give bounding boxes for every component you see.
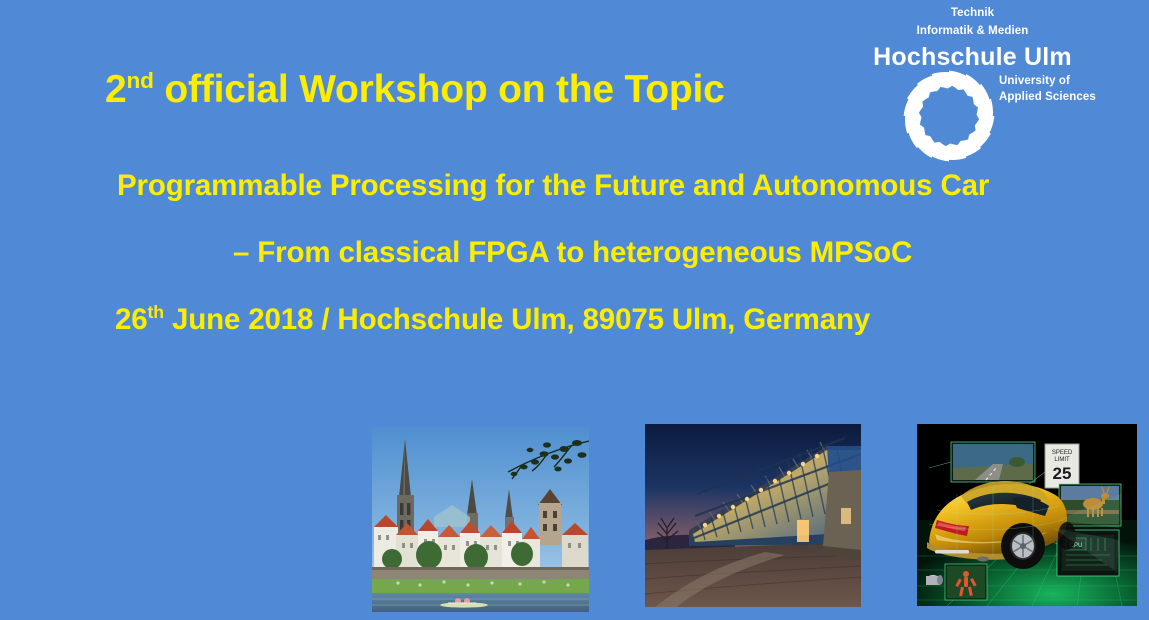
- hochschule-ulm-building-photo: [645, 424, 861, 607]
- logo-department-line-2: Informatik & Medien: [856, 22, 1089, 40]
- hochschule-ulm-logo: Technik Informatik & Medien Hochschule U…: [856, 0, 1149, 175]
- event-date-location: 26th June 2018 / Hochschule Ulm, 89075 U…: [115, 303, 870, 337]
- title-rest: official Workshop on the Topic: [154, 68, 725, 111]
- title-prefix: 2: [105, 68, 127, 111]
- logo-subtitle: University of Applied Sciences: [999, 74, 1096, 105]
- date-superscript: th: [148, 302, 164, 322]
- logo-subtitle-line-2: Applied Sciences: [999, 90, 1096, 106]
- logo-department-line-1: Technik: [856, 4, 1089, 22]
- swirl-spiral-logo-icon: [895, 62, 1003, 170]
- subtitle-line-1: Programmable Processing for the Future a…: [117, 169, 989, 203]
- date-prefix: 26: [115, 303, 148, 336]
- page-title: 2nd official Workshop on the Topic: [105, 68, 725, 112]
- autonomous-car-photo: SPEED LIMIT 25: [917, 424, 1137, 606]
- ulm-skyline-photo: [372, 427, 589, 612]
- svg-text:25: 25: [1053, 464, 1072, 483]
- date-rest: June 2018 / Hochschule Ulm, 89075 Ulm, G…: [164, 303, 870, 336]
- svg-text:SPEED: SPEED: [1052, 450, 1073, 456]
- title-superscript: nd: [127, 68, 154, 93]
- presentation-slide: Technik Informatik & Medien Hochschule U…: [0, 0, 1149, 620]
- logo-subtitle-line-1: University of: [999, 74, 1096, 90]
- svg-text:LIMIT: LIMIT: [1054, 457, 1070, 463]
- subtitle-line-2: – From classical FPGA to heterogeneous M…: [233, 236, 912, 270]
